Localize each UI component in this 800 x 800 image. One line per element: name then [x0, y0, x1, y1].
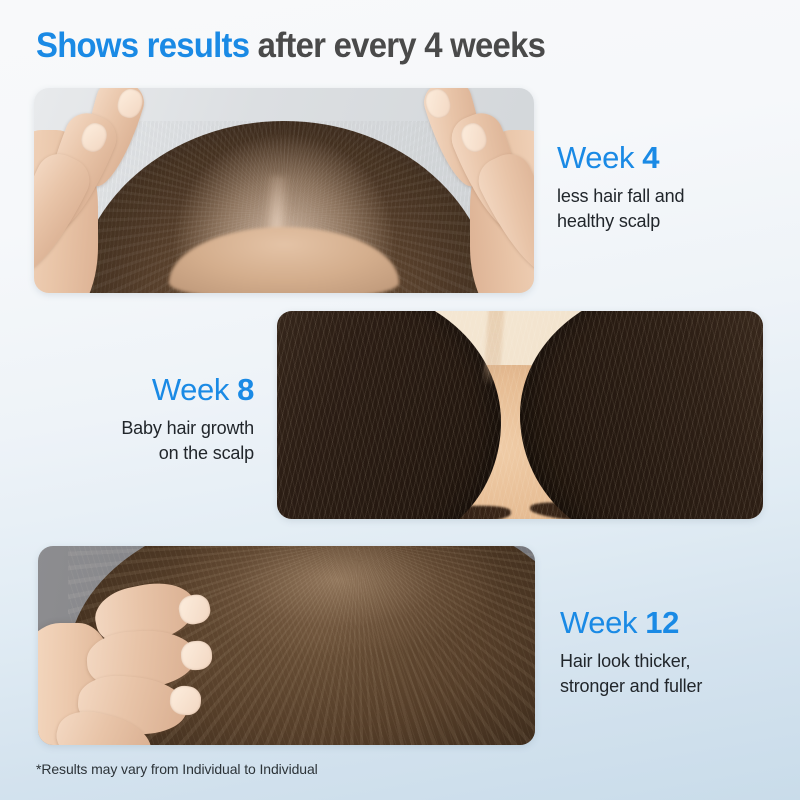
week-label: Week: [557, 140, 642, 175]
week-heading-8: Week 8: [18, 372, 254, 409]
left-hand: [34, 88, 214, 293]
week-number: 4: [642, 140, 659, 175]
page-title: Shows results after every 4 weeks: [36, 26, 545, 66]
caption-week-4: Week 4 less hair fall and healthy scalp: [557, 140, 787, 235]
photo-week-8: [277, 311, 763, 519]
week-description-8: Baby hair growth on the scalp: [18, 416, 254, 467]
week-heading-12: Week 12: [560, 605, 795, 642]
week-description-4: less hair fall and healthy scalp: [557, 184, 787, 235]
photo-card-week-4: [34, 88, 534, 293]
photo-week-12: [38, 546, 535, 745]
caption-week-8: Week 8 Baby hair growth on the scalp: [18, 372, 254, 467]
photo-card-week-12: [38, 546, 535, 745]
photo-week-4: [34, 88, 534, 293]
caption-week-12: Week 12 Hair look thicker, stronger and …: [560, 605, 795, 700]
page-title-rest: after every 4 weeks: [249, 26, 545, 65]
photo-card-week-8: [277, 311, 763, 519]
hair-strands: [277, 311, 763, 519]
week-label: Week: [560, 605, 645, 640]
page-title-accent: Shows results: [36, 26, 249, 65]
fingernail: [169, 685, 202, 716]
week-heading-4: Week 4: [557, 140, 787, 177]
week-number: 12: [645, 605, 679, 640]
hand: [43, 570, 262, 745]
right-hand: [354, 88, 534, 293]
fingernail: [180, 640, 213, 671]
disclaimer-footnote: *Results may vary from Individual to Ind…: [36, 761, 318, 777]
week-label: Week: [152, 372, 237, 407]
week-description-12: Hair look thicker, stronger and fuller: [560, 649, 795, 700]
week-number: 8: [237, 372, 254, 407]
